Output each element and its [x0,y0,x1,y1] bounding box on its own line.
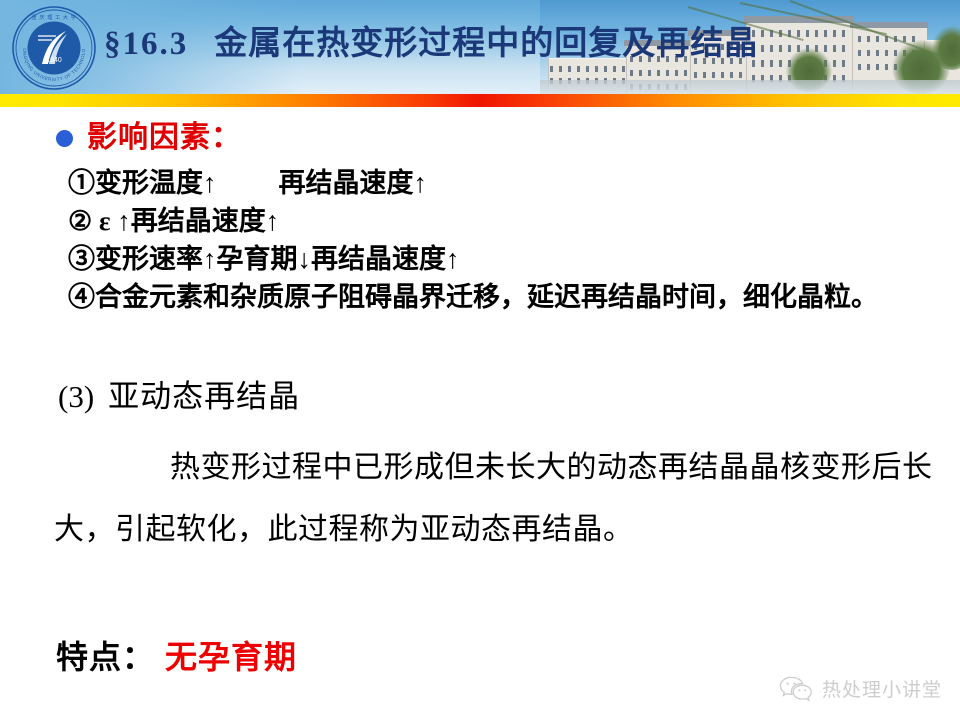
definition-paragraph-text: 热变形过程中已形成但未长大的动态再结晶晶核变形后长大，引起软化，此过程称为亚动态… [54,451,933,546]
bullet-dot-icon [56,130,73,147]
definition-paragraph: 热变形过程中已形成但未长大的动态再结晶晶核变形后长大，引起软化，此过程称为亚动态… [54,437,954,561]
factor-1-tail: 再结晶速度↑ [279,168,428,198]
list-item: ①变形温度↑再结晶速度↑ [68,164,948,202]
list-item: ④合金元素和杂质原子阻碍晶界迁移，延迟再结晶时间，细化晶粒。 [68,278,948,316]
wechat-icon [779,676,813,702]
factor-1-lead: ①变形温度↑ [68,168,217,198]
watermark-text: 热处理小讲堂 [822,675,942,702]
building-windows [550,66,636,72]
factors-list: ①变形温度↑再结晶速度↑ ② ε ↑再结晶速度↑ ③变形速率↑孕育期↓再结晶速度… [68,164,948,316]
subsection-heading: (3)亚动态再结晶 [58,377,300,417]
factor-4-marker: ④ [68,282,95,312]
slide-content: 影响因素： ①变形温度↑再结晶速度↑ ② ε ↑再结晶速度↑ ③变形速率↑孕育期… [0,107,960,720]
feature-label: 特点： [56,639,155,675]
svg-text:重 庆 理 工 大 学: 重 庆 理 工 大 学 [32,13,77,21]
slide-header-banner: 1940 重 庆 理 工 大 学 CHONGQING UNIVERSITY OF… [0,0,960,94]
list-item: ② ε ↑再结晶速度↑ [68,202,948,240]
slide-title-section-number: §16.3 [104,26,188,62]
list-item: ③变形速率↑孕育期↓再结晶速度↑ [68,240,948,278]
influence-factors-heading: 影响因素： [56,121,242,155]
slide-title: §16.3金属在热变形过程中的回复及再结晶 [104,22,954,66]
presentation-slide: 1940 重 庆 理 工 大 学 CHONGQING UNIVERSITY OF… [0,0,960,720]
factor-3-lead: ③变形速率↑孕育期↓再结晶速度↑ [68,244,460,274]
slide-title-text: 金属在热变形过程中的回复及再结晶 [214,26,758,62]
subsection-title: 亚动态再结晶 [108,379,300,414]
university-logo: 1940 重 庆 理 工 大 学 CHONGQING UNIVERSITY OF… [12,6,96,90]
feature-value: 无孕育期 [165,639,297,675]
building-windows [630,70,694,76]
factor-4-text: 合金元素和杂质原子阻碍晶界迁移，延迟再结晶时间，细化晶粒。 [95,282,878,312]
svg-text:1940: 1940 [46,57,62,64]
building-windows [694,72,746,78]
subsection-number: (3) [58,379,94,414]
photo-ground [540,80,960,94]
header-divider-rule [0,94,960,107]
factor-2-lead: ② ε ↑再结晶速度↑ [68,206,279,236]
channel-watermark: 热处理小讲堂 [779,675,942,702]
feature-line: 特点：无孕育期 [56,635,297,679]
influence-factors-label: 影响因素： [87,121,242,155]
